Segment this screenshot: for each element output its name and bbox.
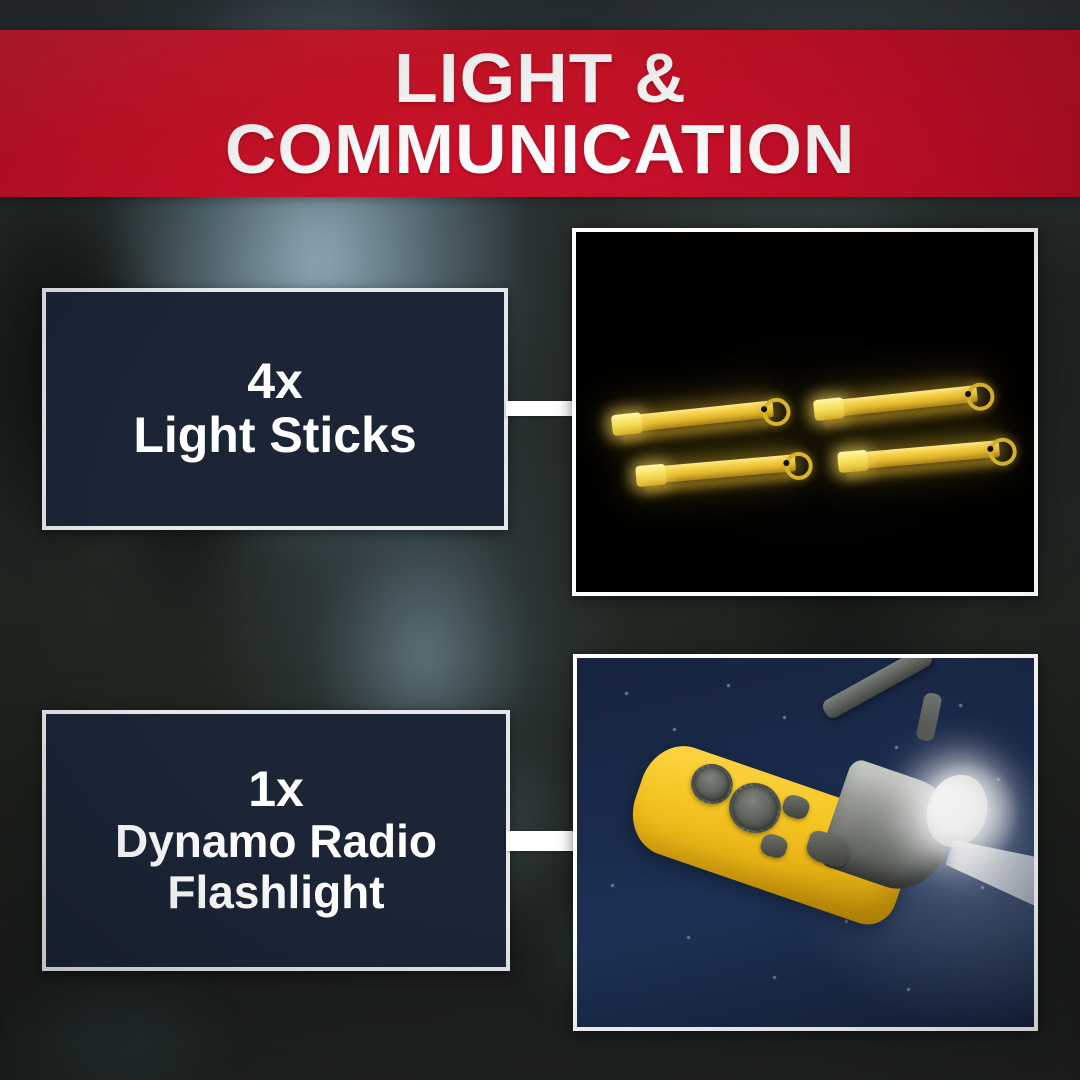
crank-handle: [820, 654, 935, 721]
crank-handle-tip: [915, 692, 943, 743]
light-stick-reflection: [823, 404, 972, 432]
connector-dynamo-radio-flashlight: [506, 831, 576, 851]
star-icon: [673, 728, 676, 731]
banner-title-line-1: LIGHT &: [394, 46, 687, 110]
star-icon: [773, 976, 776, 979]
light-stick: [637, 454, 796, 485]
light-stick-reflection: [645, 473, 791, 498]
item-card-light-sticks: 4x Light Sticks: [42, 288, 508, 530]
star-icon: [981, 886, 984, 889]
item-quantity-light-sticks: 4x: [247, 355, 303, 408]
light-stick: [815, 385, 978, 419]
header-banner: LIGHT & COMMUNICATION: [0, 30, 1080, 197]
light-stick: [839, 440, 1000, 471]
light-stick-reflection: [847, 459, 995, 484]
star-icon: [959, 704, 962, 707]
star-icon: [625, 692, 628, 695]
light-stick-reflection: [621, 419, 769, 446]
star-icon: [687, 936, 690, 939]
glow-sticks-scene: [576, 232, 1034, 592]
star-icon: [783, 716, 786, 719]
banner-title-line-2: COMMUNICATION: [225, 117, 856, 181]
star-icon: [611, 884, 614, 887]
star-icon: [845, 920, 848, 923]
background-highlight-b: [40, 1000, 200, 1080]
item-name-dynamo-radio-flashlight: Dynamo Radio Flashlight: [115, 816, 437, 917]
item-name-light-sticks: Light Sticks: [133, 408, 416, 463]
light-sticks-photo: [572, 228, 1038, 596]
connector-light-sticks: [506, 401, 576, 416]
star-icon: [907, 988, 910, 991]
light-stick: [613, 400, 774, 434]
item-card-dynamo-radio-flashlight: 1x Dynamo Radio Flashlight: [42, 710, 510, 971]
item-quantity-dynamo-radio-flashlight: 1x: [248, 763, 304, 816]
star-icon: [727, 684, 730, 687]
infographic-page: LIGHT & COMMUNICATION 4x Light Sticks: [0, 0, 1080, 1080]
star-icon: [895, 746, 898, 749]
night-sky-scene: [577, 658, 1034, 1027]
dynamo-radio-flashlight-photo: [573, 654, 1038, 1031]
